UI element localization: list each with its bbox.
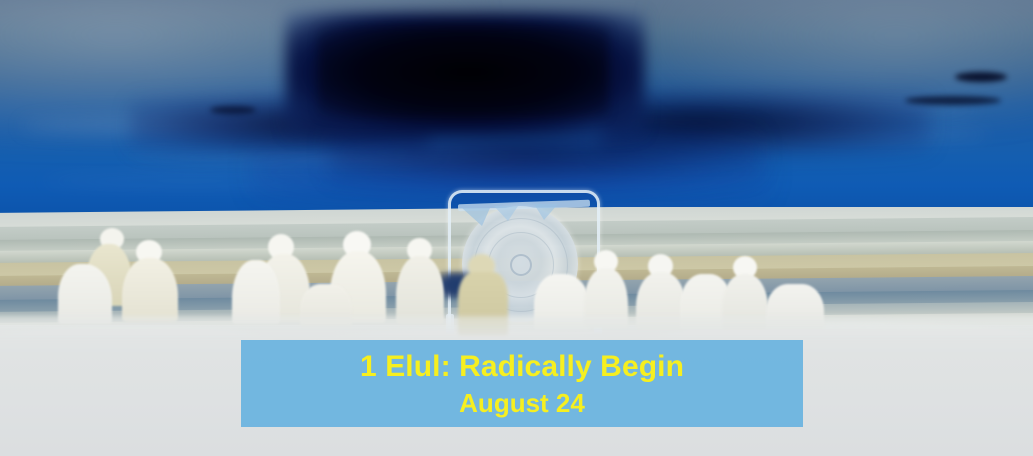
frame-banner — [534, 204, 558, 220]
image-canvas: 1 Elul: Radically Begin August 24 — [0, 0, 1033, 456]
caption-title: 1 Elul: Radically Begin — [360, 352, 684, 383]
frame-banner — [462, 208, 490, 226]
figure — [58, 262, 112, 324]
figure-body — [58, 264, 112, 324]
figure-body — [232, 260, 280, 324]
caption-date: August 24 — [459, 390, 585, 417]
figure-body — [396, 256, 444, 324]
caption-banner: 1 Elul: Radically Begin August 24 — [241, 340, 803, 427]
figure-body — [122, 258, 178, 322]
figure — [122, 240, 178, 322]
dark-storm-cloud-core — [318, 26, 608, 118]
figure — [396, 238, 444, 324]
frame-banner — [494, 206, 518, 221]
figure — [232, 258, 280, 324]
cloud-speck — [905, 96, 1001, 105]
cloud-speck — [210, 106, 256, 114]
cloud-speck — [955, 72, 1007, 82]
